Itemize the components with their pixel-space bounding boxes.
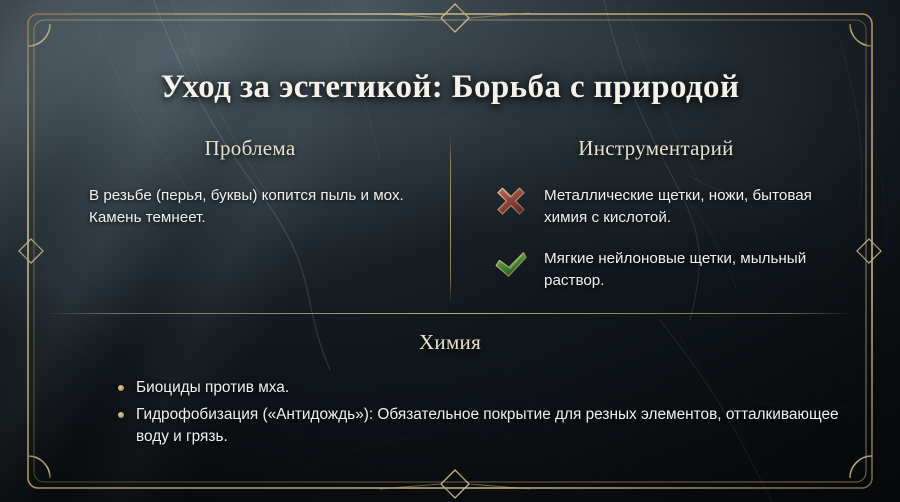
chemistry-section: Химия Биоциды против мха. Гидрофобизация… [46,330,854,449]
tools-heading: Инструментарий [460,136,852,161]
tool-item-recommended-text: Мягкие нейлоновые щетки, мыльный раствор… [544,246,852,291]
tool-item-forbidden-text: Металлические щетки, ножи, бытовая химия… [544,183,852,228]
column-divider [450,136,451,304]
problem-column: Проблема В резьбе (перья, буквы) копится… [60,136,440,243]
problem-heading: Проблема [60,136,440,161]
page-title: Уход за эстетикой: Борьба с природой [0,69,900,106]
bullet-icon [118,412,124,418]
list-item: Биоциды против мха. [118,377,854,399]
list-item-text: Биоциды против мха. [136,379,289,396]
cross-mark-icon [494,184,528,218]
check-mark-icon [494,247,528,281]
tools-column: Инструментарий [460,136,852,291]
tool-item-recommended: Мягкие нейлоновые щетки, мыльный раствор… [494,246,852,291]
tool-item-forbidden: Металлические щетки, ножи, бытовая химия… [494,183,852,228]
list-item: Гидрофобизация («Антидождь»): Обязательн… [118,404,854,448]
bullet-icon [118,385,124,391]
problem-text: В резьбе (перья, буквы) копится пыль и м… [60,185,440,228]
chemistry-heading: Химия [46,330,854,355]
slide-root: Уход за эстетикой: Борьба с природой Про… [0,0,900,502]
chemistry-list: Биоциды против мха. Гидрофобизация («Ант… [46,377,854,449]
section-divider [46,313,854,314]
list-item-text: Гидрофобизация («Антидождь»): Обязательн… [136,406,839,445]
slide-content: Уход за эстетикой: Борьба с природой Про… [0,0,900,502]
